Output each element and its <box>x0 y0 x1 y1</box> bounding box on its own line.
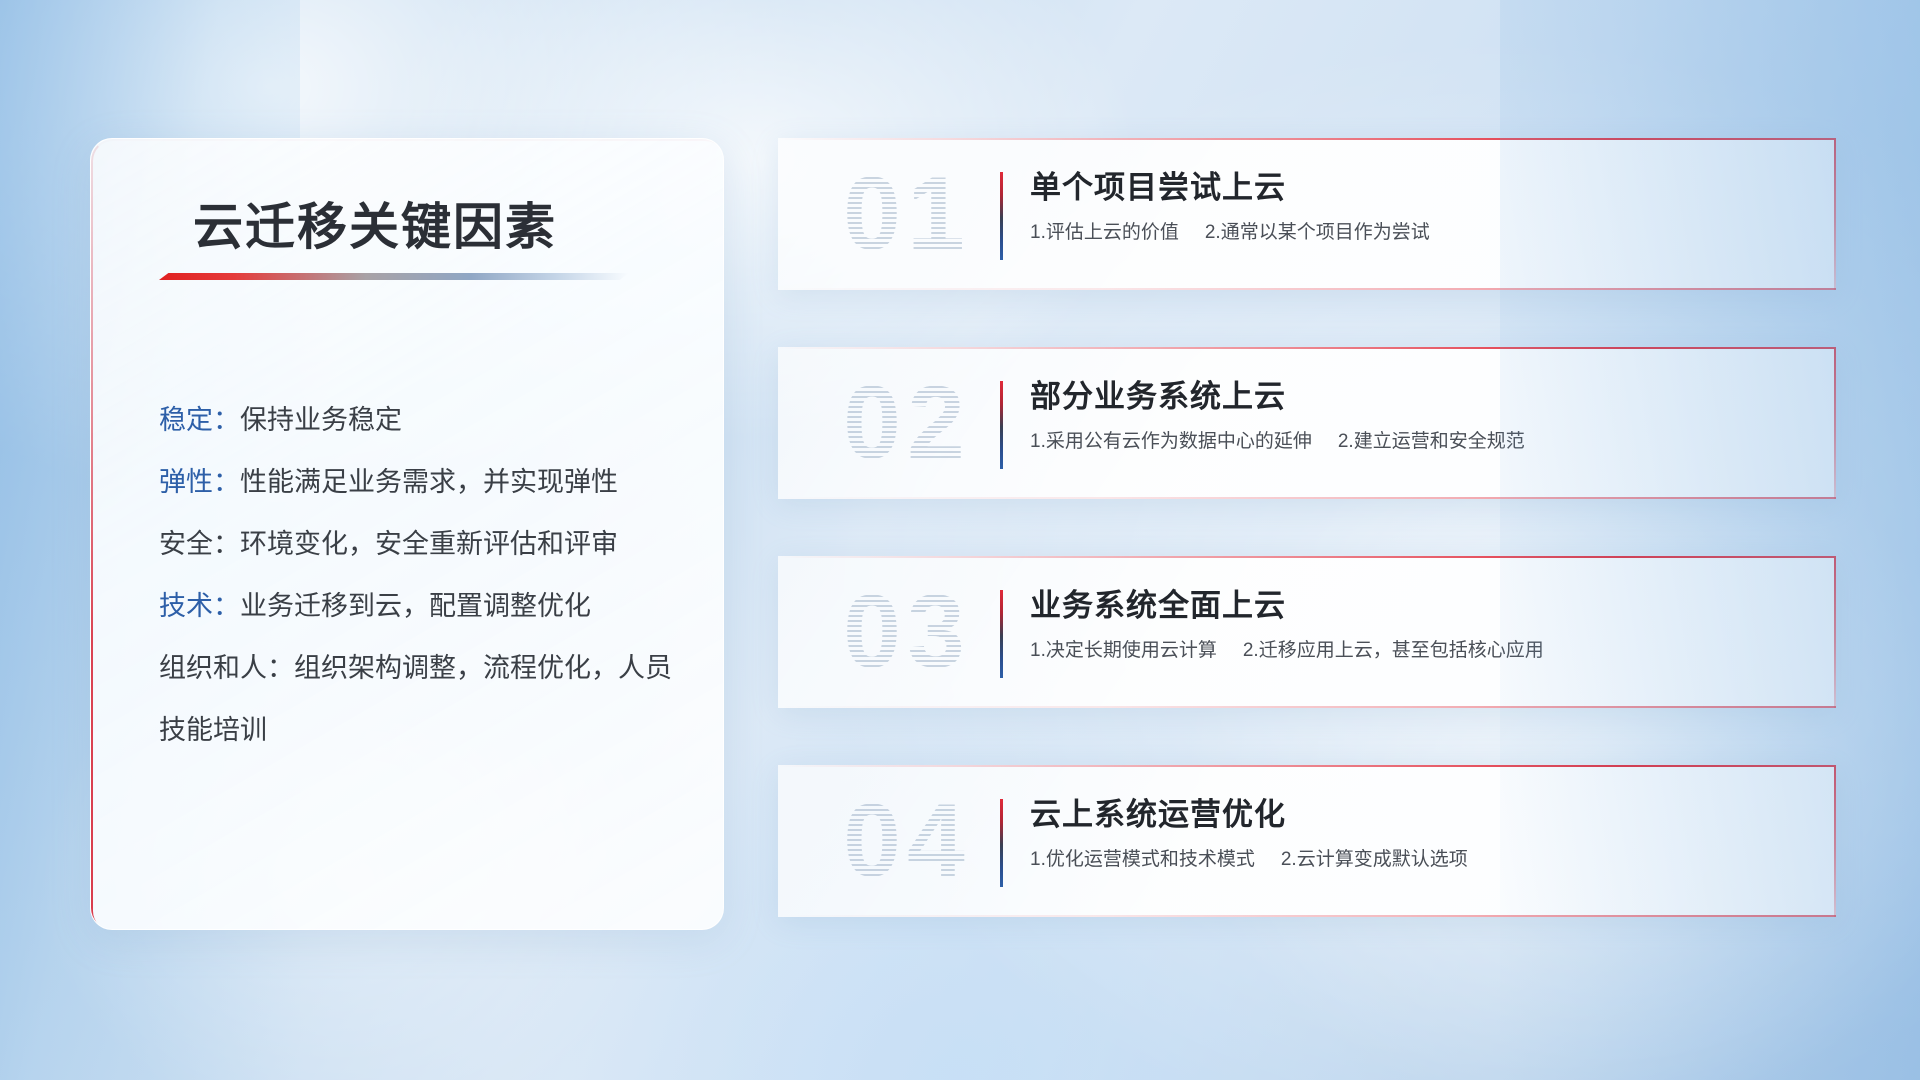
card-point-2: 2.迁移应用上云，甚至包括核心应用 <box>1243 640 1544 661</box>
card-body: 业务系统全面上云1.决定长期使用云计算2.迁移应用上云，甚至包括核心应用 <box>1030 584 1810 666</box>
card-description: 1.优化运营模式和技术模式2.云计算变成默认选项 <box>1030 845 1810 875</box>
card-body: 单个项目尝试上云1.评估上云的价值2.通常以某个项目作为尝试 <box>1030 166 1810 248</box>
key-factor-label: 组织和人： <box>159 653 294 683</box>
card-divider-bar <box>1000 590 1003 678</box>
stage-number-watermark: 03 <box>802 570 1012 694</box>
card-point-2: 2.通常以某个项目作为尝试 <box>1205 222 1430 243</box>
card-divider-bar <box>1000 381 1003 469</box>
key-factor-row: 组织和人：组织架构调整，流程优化，人员技能培训 <box>159 637 679 761</box>
maturity-stage-card-list: 01单个项目尝试上云1.评估上云的价值2.通常以某个项目作为尝试02部分业务系统… <box>778 138 1836 974</box>
card-title: 单个项目尝试上云 <box>1030 166 1810 210</box>
key-factor-row: 稳定：保持业务稳定 <box>159 389 679 451</box>
maturity-stage-card[interactable]: 04云上系统运营优化1.优化运营模式和技术模式2.云计算变成默认选项 <box>778 765 1836 917</box>
card-title: 部分业务系统上云 <box>1030 375 1810 419</box>
card-right-accent-line <box>1834 556 1836 708</box>
card-point-2: 2.云计算变成默认选项 <box>1281 849 1468 870</box>
card-bottom-accent-line <box>778 706 1836 708</box>
key-factor-text: 性能满足业务需求，并实现弹性 <box>240 467 618 497</box>
key-factor-text: 环境变化，安全重新评估和评审 <box>240 529 618 559</box>
key-factor-row: 安全：环境变化，安全重新评估和评审 <box>159 513 679 575</box>
card-bottom-accent-line <box>778 915 1836 917</box>
stage-number-watermark: 01 <box>802 152 1012 276</box>
card-bottom-accent-line <box>778 497 1836 499</box>
card-title: 业务系统全面上云 <box>1030 584 1810 628</box>
key-factor-label: 安全： <box>159 529 240 559</box>
slide-canvas: 云迁移关键因素 稳定：保持业务稳定弹性：性能满足业务需求，并实现弹性安全：环境变… <box>0 0 1920 1080</box>
card-point-1: 1.优化运营模式和技术模式 <box>1030 849 1255 870</box>
title-underline-gradient <box>159 273 629 280</box>
key-factor-label: 弹性： <box>159 467 240 497</box>
card-description: 1.评估上云的价值2.通常以某个项目作为尝试 <box>1030 218 1810 248</box>
key-factor-row: 弹性：性能满足业务需求，并实现弹性 <box>159 451 679 513</box>
card-top-accent-line <box>778 347 1836 349</box>
key-factors-panel: 云迁移关键因素 稳定：保持业务稳定弹性：性能满足业务需求，并实现弹性安全：环境变… <box>90 138 724 930</box>
card-point-1: 1.评估上云的价值 <box>1030 222 1179 243</box>
key-factor-text: 保持业务稳定 <box>240 405 402 435</box>
card-bottom-accent-line <box>778 288 1836 290</box>
card-point-1: 1.决定长期使用云计算 <box>1030 640 1217 661</box>
card-right-accent-line <box>1834 347 1836 499</box>
card-point-1: 1.采用公有云作为数据中心的延伸 <box>1030 431 1312 452</box>
card-point-2: 2.建立运营和安全规范 <box>1338 431 1525 452</box>
maturity-stage-card[interactable]: 03业务系统全面上云1.决定长期使用云计算2.迁移应用上云，甚至包括核心应用 <box>778 556 1836 708</box>
card-top-accent-line <box>778 765 1836 767</box>
key-factor-text: 业务迁移到云，配置调整优化 <box>240 591 591 621</box>
maturity-stage-card[interactable]: 02部分业务系统上云1.采用公有云作为数据中心的延伸2.建立运营和安全规范 <box>778 347 1836 499</box>
card-right-accent-line <box>1834 138 1836 290</box>
maturity-stage-card[interactable]: 01单个项目尝试上云1.评估上云的价值2.通常以某个项目作为尝试 <box>778 138 1836 290</box>
card-body: 部分业务系统上云1.采用公有云作为数据中心的延伸2.建立运营和安全规范 <box>1030 375 1810 457</box>
card-right-accent-line <box>1834 765 1836 917</box>
key-factors-list: 稳定：保持业务稳定弹性：性能满足业务需求，并实现弹性安全：环境变化，安全重新评估… <box>159 389 679 761</box>
card-description: 1.采用公有云作为数据中心的延伸2.建立运营和安全规范 <box>1030 427 1810 457</box>
card-divider-bar <box>1000 172 1003 260</box>
key-factor-row: 技术：业务迁移到云，配置调整优化 <box>159 575 679 637</box>
key-factor-label: 技术： <box>159 591 240 621</box>
card-top-accent-line <box>778 138 1836 140</box>
card-description: 1.决定长期使用云计算2.迁移应用上云，甚至包括核心应用 <box>1030 636 1810 666</box>
card-top-accent-line <box>778 556 1836 558</box>
stage-number-watermark: 04 <box>802 779 1012 903</box>
card-divider-bar <box>1000 799 1003 887</box>
stage-number-watermark: 02 <box>802 361 1012 485</box>
key-factor-label: 稳定： <box>159 405 240 435</box>
card-title: 云上系统运营优化 <box>1030 793 1810 837</box>
page-title: 云迁移关键因素 <box>193 187 557 259</box>
card-body: 云上系统运营优化1.优化运营模式和技术模式2.云计算变成默认选项 <box>1030 793 1810 875</box>
